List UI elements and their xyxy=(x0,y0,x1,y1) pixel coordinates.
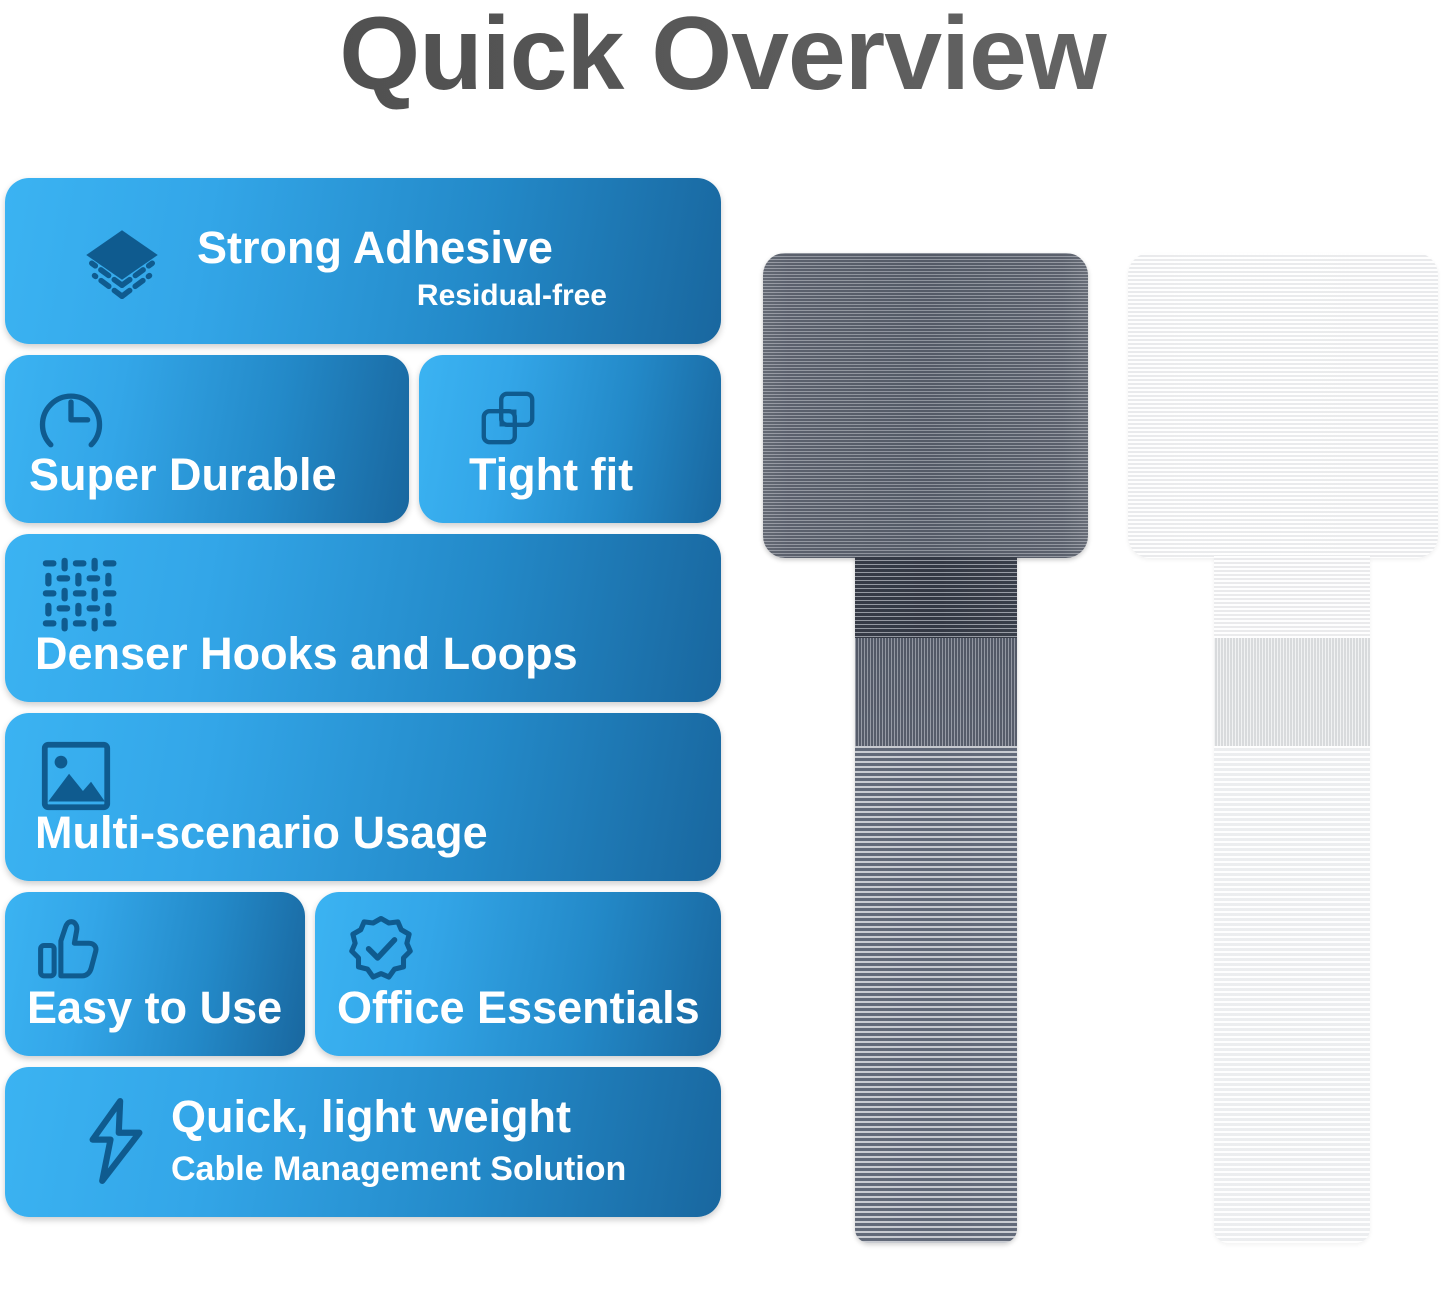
feature-card-tight-fit[interactable]: Tight fit xyxy=(419,355,721,523)
thumbs-up-icon xyxy=(35,914,107,986)
feature-card-title: Denser Hooks and Loops xyxy=(35,626,578,682)
feature-card-strong-adhesive[interactable]: Strong Adhesive Residual-free xyxy=(5,178,721,344)
woven-mesh-icon xyxy=(39,554,119,634)
strap-segment-hook xyxy=(855,556,1017,638)
lightning-bolt-icon xyxy=(81,1097,151,1185)
feature-row: Quick, light weight Cable Management Sol… xyxy=(5,1067,721,1217)
feature-card-multi-scenario-usage[interactable]: Multi-scenario Usage xyxy=(5,713,721,881)
strap-segment-middle xyxy=(855,638,1017,746)
feature-card-super-durable[interactable]: Super Durable xyxy=(5,355,409,523)
feature-card-title: Office Essentials xyxy=(337,980,700,1036)
product-image-cable-tie-white xyxy=(1128,253,1438,1243)
strap-segment-middle xyxy=(1214,638,1370,746)
layers-stack-icon xyxy=(78,222,166,310)
feature-card-title: Quick, light weight xyxy=(171,1089,571,1145)
feature-row: Super Durable Tight fit xyxy=(5,355,721,523)
strap-segment-loop xyxy=(855,746,1017,1243)
feature-row: Denser Hooks and Loops xyxy=(5,534,721,702)
feature-row: Strong Adhesive Residual-free xyxy=(5,178,721,344)
feature-card-subtitle: Cable Management Solution xyxy=(171,1147,626,1191)
product-head-panel xyxy=(1128,253,1438,558)
verified-badge-icon xyxy=(345,914,417,986)
feature-card-title: Tight fit xyxy=(469,447,633,503)
feature-card-title: Multi-scenario Usage xyxy=(35,805,488,861)
strap-segment-loop xyxy=(1214,746,1370,1243)
feature-card-title: Easy to Use xyxy=(27,980,282,1036)
image-photo-icon xyxy=(39,739,113,813)
feature-card-subtitle: Residual-free xyxy=(197,278,607,314)
product-strap xyxy=(1214,556,1370,1243)
feature-card-denser-hooks-and-loops[interactable]: Denser Hooks and Loops xyxy=(5,534,721,702)
feature-card-office-essentials[interactable]: Office Essentials xyxy=(315,892,721,1056)
feature-card-title: Strong Adhesive xyxy=(197,222,553,274)
feature-card-easy-to-use[interactable]: Easy to Use xyxy=(5,892,305,1056)
overlapping-squares-icon xyxy=(477,387,539,449)
strap-segment-hook xyxy=(1214,556,1370,638)
product-image-cable-tie-gray xyxy=(763,253,1088,1243)
feature-card-grid: Strong Adhesive Residual-free Super Dura… xyxy=(5,178,721,1228)
feature-row: Easy to Use Office Essentials xyxy=(5,892,721,1056)
feature-row: Multi-scenario Usage xyxy=(5,713,721,881)
page-title: Quick Overview xyxy=(0,0,1445,110)
feature-card-quick-light-weight[interactable]: Quick, light weight Cable Management Sol… xyxy=(5,1067,721,1217)
product-head-panel xyxy=(763,253,1088,558)
feature-card-title: Super Durable xyxy=(29,447,337,503)
product-strap xyxy=(855,556,1017,1243)
